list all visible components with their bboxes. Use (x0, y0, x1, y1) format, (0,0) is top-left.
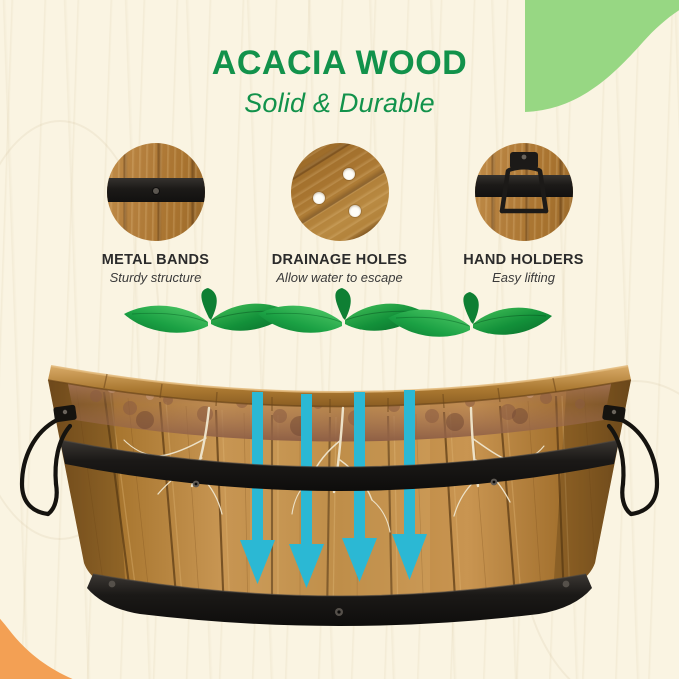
feature-label: DRAINAGE HOLES (252, 252, 427, 268)
seedling (124, 288, 290, 380)
header-block: ACACIA WOOD Solid & Durable (0, 46, 679, 119)
rivet-icon (153, 188, 159, 194)
wood-texture (291, 143, 389, 241)
feature-hand-holders: HAND HOLDERS Easy lifting (436, 143, 611, 285)
planter-illustration (0, 288, 679, 628)
page-subtitle: Solid & Durable (0, 88, 679, 119)
feature-caption: Allow water to escape (252, 270, 427, 285)
seedling-group (124, 288, 552, 380)
drainage-hole-icon (349, 205, 361, 217)
drainage-holes-photo (291, 143, 389, 241)
feature-metal-bands: METAL BANDS Sturdy structure (68, 143, 243, 285)
metal-bands-photo (107, 143, 205, 241)
seedling (258, 288, 424, 380)
feature-caption: Sturdy structure (68, 270, 243, 285)
seedling (388, 292, 552, 380)
feature-row: METAL BANDS Sturdy structure DRAINAGE HO… (68, 143, 611, 285)
feature-label: METAL BANDS (68, 252, 243, 268)
hand-holders-photo (475, 143, 573, 241)
feature-label: HAND HOLDERS (436, 252, 611, 268)
rivet-icon (563, 581, 570, 588)
rivet-icon (109, 581, 116, 588)
feature-caption: Easy lifting (436, 270, 611, 285)
drainage-hole-icon (313, 192, 325, 204)
feature-drainage-holes: DRAINAGE HOLES Allow water to escape (252, 143, 427, 285)
planter-svg (0, 288, 679, 628)
page-title: ACACIA WOOD (0, 46, 679, 82)
handle-icon (475, 143, 573, 241)
product-infographic: ACACIA WOOD Solid & Durable METAL BANDS … (0, 0, 679, 679)
